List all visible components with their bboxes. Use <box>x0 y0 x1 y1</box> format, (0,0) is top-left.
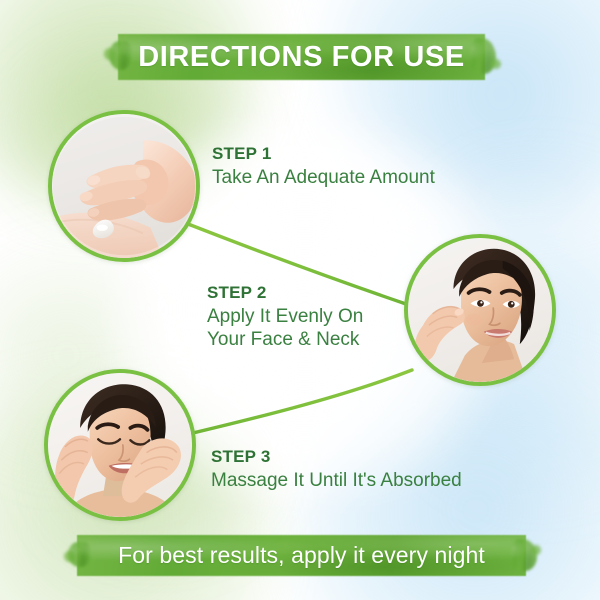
woman-massaging-face-illustration <box>48 373 192 517</box>
step-1-label: STEP 1 <box>212 143 435 164</box>
header-paint-speck <box>104 48 116 60</box>
step-2-photo <box>408 238 552 382</box>
footer-tagline: For best results, apply it every night <box>118 542 485 569</box>
step-3-image <box>44 369 196 521</box>
connector-step2-to-step3 <box>172 370 412 438</box>
step-2-image <box>404 234 556 386</box>
step-2-text: STEP 2 Apply It Evenly On Your Face & Ne… <box>207 282 363 352</box>
header-banner: DIRECTIONS FOR USE <box>118 34 485 80</box>
footer-paint-speck <box>531 545 541 555</box>
hand-with-cream-illustration <box>52 114 196 258</box>
page-title: DIRECTIONS FOR USE <box>138 41 465 74</box>
step-2-description: Apply It Evenly On Your Face & Neck <box>207 305 363 351</box>
step-1-text: STEP 1 Take An Adequate Amount <box>212 143 435 189</box>
step-1-photo <box>52 114 196 258</box>
directions-for-use-infographic: DIRECTIONS FOR USE <box>0 0 600 600</box>
step-1-image <box>48 110 200 262</box>
step-1-description: Take An Adequate Amount <box>212 166 435 189</box>
step-3-description: Massage It Until It's Absorbed <box>211 469 462 492</box>
header-paint-speck <box>491 59 501 69</box>
step-3-label: STEP 3 <box>211 446 462 467</box>
step-2-label: STEP 2 <box>207 282 363 303</box>
footer-banner: For best results, apply it every night <box>77 535 526 576</box>
step-3-text: STEP 3 Massage It Until It's Absorbed <box>211 446 462 492</box>
woman-applying-cream-illustration <box>408 238 552 382</box>
step-3-photo <box>48 373 192 517</box>
